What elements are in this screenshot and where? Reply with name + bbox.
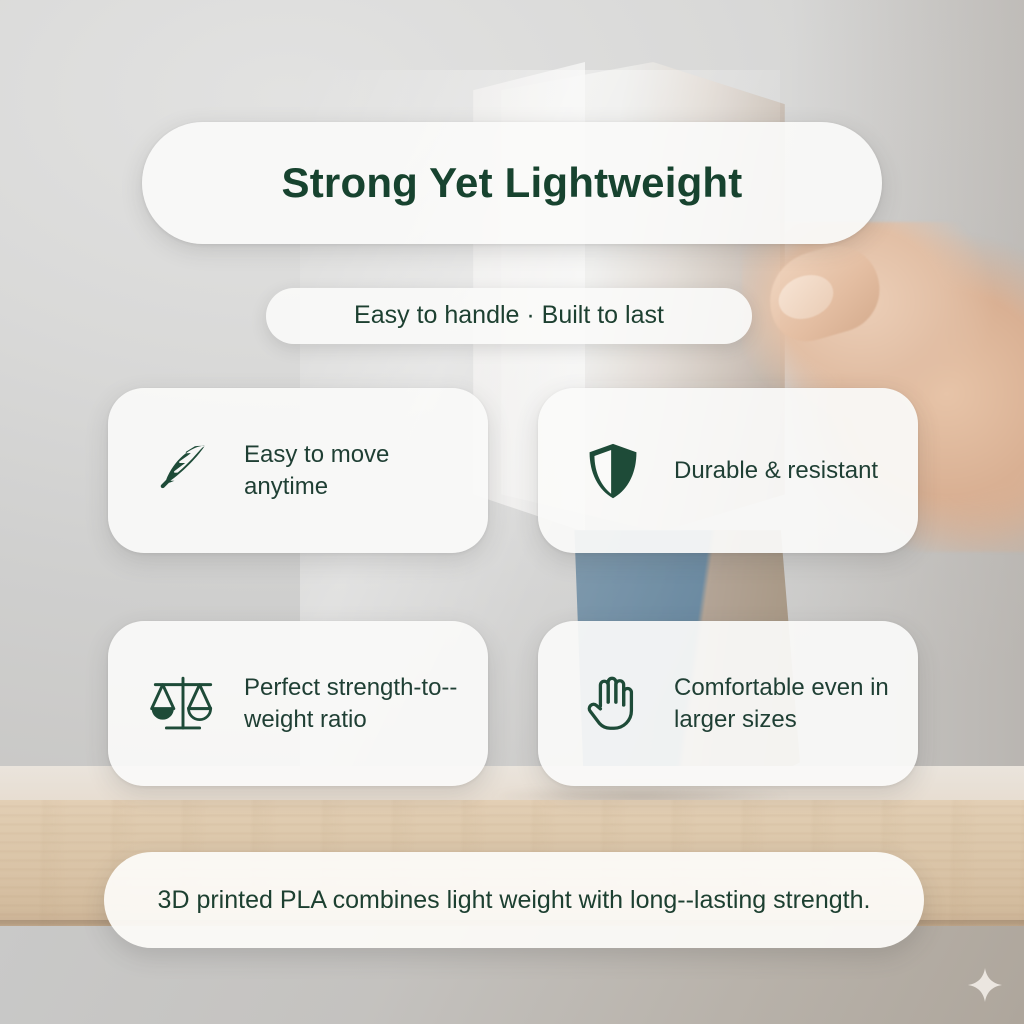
feature-card-durable: Durable & resistant bbox=[538, 388, 918, 553]
open-hand-icon bbox=[578, 669, 648, 739]
feature-card-label: Comfortable even in larger sizes bbox=[674, 672, 892, 735]
feature-card-strength-ratio: Perfect strength-to--weight ratio bbox=[108, 621, 488, 786]
feature-card-label: Durable & resistant bbox=[674, 455, 878, 487]
feature-card-grid: Easy to move anytime Durable & resistant bbox=[108, 388, 918, 786]
feather-icon bbox=[148, 436, 218, 506]
balance-scale-icon bbox=[148, 669, 218, 739]
page-subtitle: Easy to handle · Built to last bbox=[354, 302, 664, 330]
footer-caption-banner: 3D printed PLA combines light weight wit… bbox=[104, 852, 924, 948]
page-title: Strong Yet Lightweight bbox=[282, 160, 743, 206]
feature-card-label: Easy to move anytime bbox=[244, 439, 462, 502]
feature-card-label: Perfect strength-to--weight ratio bbox=[244, 672, 462, 735]
feature-card-comfortable: Comfortable even in larger sizes bbox=[538, 621, 918, 786]
subtitle-banner: Easy to handle · Built to last bbox=[266, 288, 752, 344]
shield-icon bbox=[578, 436, 648, 506]
info-overlay: Strong Yet Lightweight Easy to handle · … bbox=[0, 0, 1024, 1024]
footer-caption: 3D printed PLA combines light weight wit… bbox=[116, 883, 913, 917]
title-banner: Strong Yet Lightweight bbox=[142, 122, 882, 244]
scene: Strong Yet Lightweight Easy to handle · … bbox=[0, 0, 1024, 1024]
feature-card-easy-to-move: Easy to move anytime bbox=[108, 388, 488, 553]
sparkle-icon bbox=[968, 968, 1002, 1002]
